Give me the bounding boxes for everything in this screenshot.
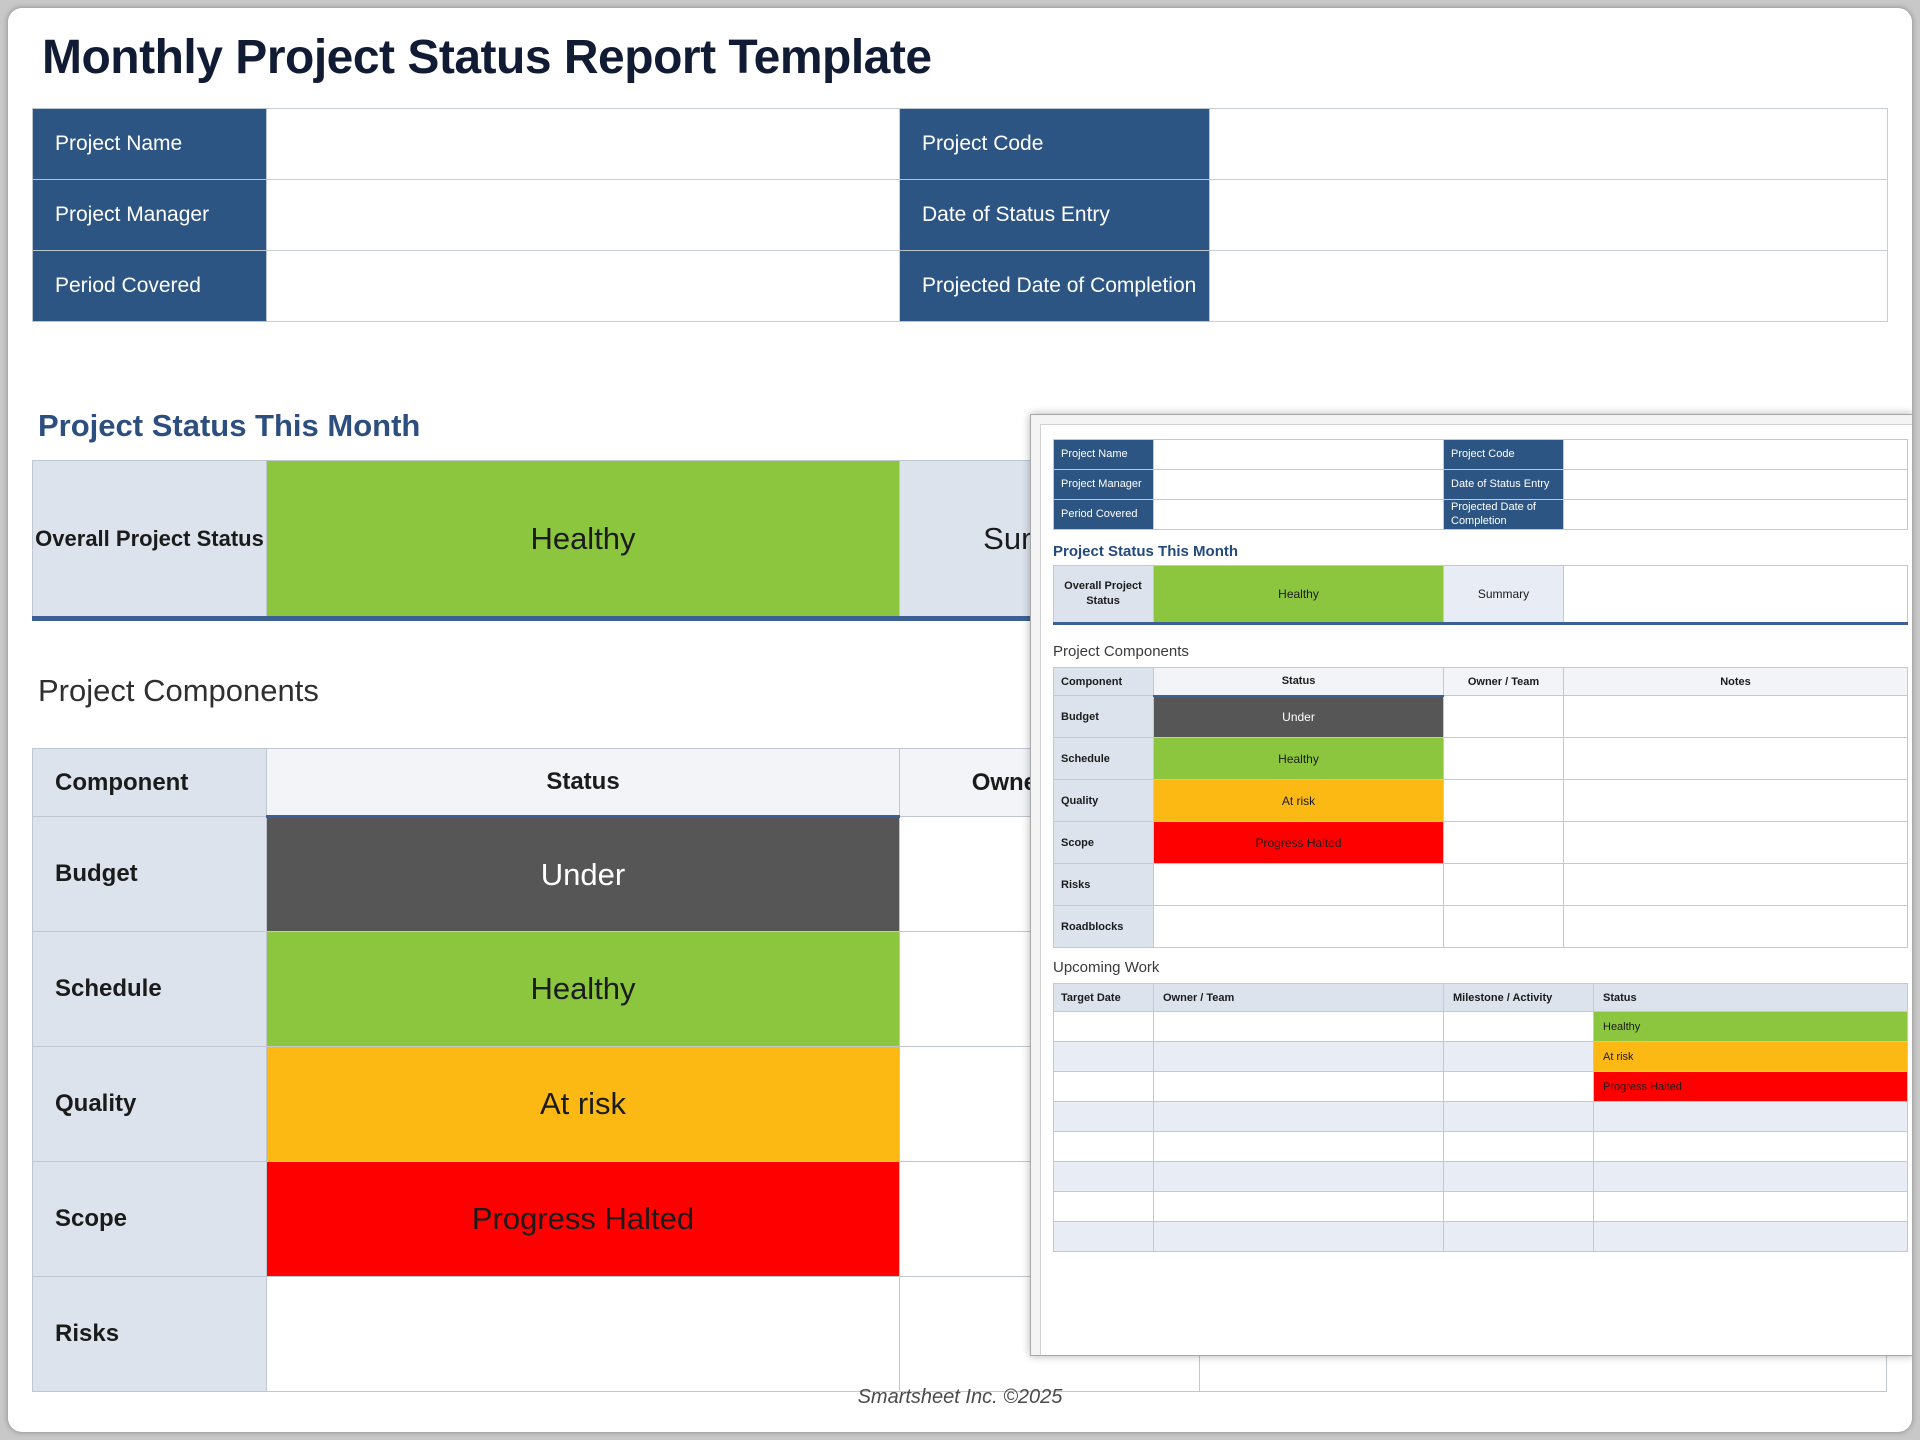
thumb-project-info-table: Project Name Project Code Project Manage… — [1053, 439, 1908, 530]
input-projected-date-of-completion[interactable] — [1210, 251, 1888, 322]
thumb-notes-cell-quality[interactable] — [1564, 780, 1908, 822]
row-label-scope: Scope — [33, 1162, 267, 1277]
thumb-upcoming-target-date-2[interactable] — [1054, 1042, 1154, 1072]
thumb-upcoming-owner-5[interactable] — [1154, 1132, 1444, 1162]
table-row — [1054, 1222, 1908, 1252]
thumb-status-cell-budget[interactable]: Under — [1154, 696, 1444, 738]
value-overall-project-status[interactable]: Healthy — [267, 461, 900, 619]
thumb-upcoming-target-date-6[interactable] — [1054, 1162, 1154, 1192]
table-row — [1054, 1192, 1908, 1222]
thumb-upcoming-target-date-7[interactable] — [1054, 1192, 1154, 1222]
thumb-notes-cell-budget[interactable] — [1564, 696, 1908, 738]
thumb-value-overall-project-status[interactable]: Healthy — [1154, 566, 1444, 624]
section-heading-project-status: Project Status This Month — [38, 408, 420, 444]
thumb-label-date-of-status-entry: Date of Status Entry — [1444, 470, 1564, 500]
thumb-upcoming-status-4[interactable] — [1594, 1102, 1908, 1132]
footer-credit: Smartsheet Inc. ©2025 — [8, 1386, 1912, 1409]
thumb-status-cell-risks[interactable] — [1154, 864, 1444, 906]
thumb-notes-cell-scope[interactable] — [1564, 822, 1908, 864]
table-row: Schedule Healthy — [1054, 738, 1908, 780]
table-row — [1054, 1102, 1908, 1132]
input-project-name[interactable] — [267, 109, 900, 180]
thumb-row-label-quality: Quality — [1054, 780, 1154, 822]
table-row — [1054, 1162, 1908, 1192]
section-heading-project-components: Project Components — [38, 673, 319, 709]
thumb-upcoming-milestone-5[interactable] — [1444, 1132, 1594, 1162]
thumb-row-label-roadblocks: Roadblocks — [1054, 906, 1154, 948]
thumb-column-header-component: Component — [1054, 668, 1154, 696]
thumb-notes-cell-risks[interactable] — [1564, 864, 1908, 906]
thumb-label-summary: Summary — [1444, 566, 1564, 624]
thumb-upcoming-milestone-1[interactable] — [1444, 1012, 1594, 1042]
thumb-section-heading-upcoming-work: Upcoming Work — [1053, 959, 1159, 976]
thumb-notes-cell-roadblocks[interactable] — [1564, 906, 1908, 948]
thumb-input-projected-date-of-completion[interactable] — [1564, 500, 1908, 530]
thumb-column-header-owner-team: Owner / Team — [1154, 984, 1444, 1012]
thumb-upcoming-target-date-5[interactable] — [1054, 1132, 1154, 1162]
input-period-covered[interactable] — [267, 251, 900, 322]
thumb-input-period-covered[interactable] — [1154, 500, 1444, 530]
thumb-input-summary[interactable] — [1564, 566, 1908, 624]
thumbnail-page: Project Name Project Code Project Manage… — [1040, 424, 1912, 1355]
thumb-label-project-manager: Project Manager — [1054, 470, 1154, 500]
table-row: Budget Under — [1054, 696, 1908, 738]
label-project-manager: Project Manager — [33, 180, 267, 251]
thumb-section-heading-project-status: Project Status This Month — [1053, 543, 1238, 560]
table-row: Risks — [1054, 864, 1908, 906]
thumb-column-header-notes: Notes — [1564, 668, 1908, 696]
thumb-owner-cell-budget[interactable] — [1444, 696, 1564, 738]
thumb-status-cell-roadblocks[interactable] — [1154, 906, 1444, 948]
thumb-label-period-covered: Period Covered — [1054, 500, 1154, 530]
table-row: Project Name Project Code — [1054, 440, 1908, 470]
thumb-upcoming-target-date-4[interactable] — [1054, 1102, 1154, 1132]
thumb-status-cell-scope[interactable]: Progress Halted — [1154, 822, 1444, 864]
label-period-covered: Period Covered — [33, 251, 267, 322]
thumb-label-project-code: Project Code — [1444, 440, 1564, 470]
thumb-upcoming-milestone-8[interactable] — [1444, 1222, 1594, 1252]
input-project-manager[interactable] — [267, 180, 900, 251]
thumb-overall-status-table: Overall Project Status Healthy Summary — [1053, 565, 1908, 625]
thumb-owner-cell-schedule[interactable] — [1444, 738, 1564, 780]
row-label-schedule: Schedule — [33, 932, 267, 1047]
thumb-owner-cell-risks[interactable] — [1444, 864, 1564, 906]
status-cell-budget[interactable]: Under — [267, 817, 900, 932]
thumb-upcoming-milestone-3[interactable] — [1444, 1072, 1594, 1102]
table-row: Quality At risk — [1054, 780, 1908, 822]
thumb-upcoming-status-8[interactable] — [1594, 1222, 1908, 1252]
status-cell-quality[interactable]: At risk — [267, 1047, 900, 1162]
thumb-upcoming-owner-4[interactable] — [1154, 1102, 1444, 1132]
page-title: Monthly Project Status Report Template — [42, 30, 932, 85]
thumb-input-project-manager[interactable] — [1154, 470, 1444, 500]
thumb-label-project-name: Project Name — [1054, 440, 1154, 470]
table-row: Healthy — [1054, 1012, 1908, 1042]
thumb-row-label-budget: Budget — [1054, 696, 1154, 738]
thumb-project-components-table: Component Status Owner / Team Notes Budg… — [1053, 667, 1908, 948]
thumb-column-header-milestone-activity: Milestone / Activity — [1444, 984, 1594, 1012]
report-page: Monthly Project Status Report Template P… — [8, 8, 1912, 1432]
thumb-label-overall-project-status: Overall Project Status — [1054, 566, 1154, 624]
thumb-upcoming-target-date-8[interactable] — [1054, 1222, 1154, 1252]
table-row: At risk — [1054, 1042, 1908, 1072]
label-project-name: Project Name — [33, 109, 267, 180]
thumb-upcoming-owner-1[interactable] — [1154, 1012, 1444, 1042]
thumb-input-project-name[interactable] — [1154, 440, 1444, 470]
table-row: Scope Progress Halted — [1054, 822, 1908, 864]
thumb-upcoming-target-date-1[interactable] — [1054, 1012, 1154, 1042]
thumb-upcoming-owner-8[interactable] — [1154, 1222, 1444, 1252]
project-info-table: Project Name Project Code Project Manage… — [32, 108, 1888, 322]
table-row: Progress Halted — [1054, 1072, 1908, 1102]
thumb-column-header-status: Status — [1154, 668, 1444, 696]
thumb-upcoming-owner-7[interactable] — [1154, 1192, 1444, 1222]
thumb-row-label-scope: Scope — [1054, 822, 1154, 864]
table-row: Overall Project Status Healthy Summary — [1054, 566, 1908, 624]
table-row: Period Covered Projected Date of Complet… — [1054, 500, 1908, 530]
table-header-row: Component Status Owner / Team Notes — [1054, 668, 1908, 696]
thumb-upcoming-owner-6[interactable] — [1154, 1162, 1444, 1192]
thumb-upcoming-status-6[interactable] — [1594, 1162, 1908, 1192]
thumb-upcoming-target-date-3[interactable] — [1054, 1072, 1154, 1102]
label-projected-date-of-completion: Projected Date of Completion — [900, 251, 1210, 322]
table-row: Roadblocks — [1054, 906, 1908, 948]
thumb-upcoming-status-5[interactable] — [1594, 1132, 1908, 1162]
thumb-upcoming-milestone-7[interactable] — [1444, 1192, 1594, 1222]
thumb-row-label-risks: Risks — [1054, 864, 1154, 906]
thumb-upcoming-owner-3[interactable] — [1154, 1072, 1444, 1102]
thumb-upcoming-status-1[interactable]: Healthy — [1594, 1012, 1908, 1042]
thumb-upcoming-status-7[interactable] — [1594, 1192, 1908, 1222]
thumb-upcoming-work-table: Target Date Owner / Team Milestone / Act… — [1053, 983, 1908, 1252]
column-header-component: Component — [33, 749, 267, 817]
table-row: Project Name Project Code — [33, 109, 1888, 180]
thumb-upcoming-status-3[interactable]: Progress Halted — [1594, 1072, 1908, 1102]
table-header-row: Target Date Owner / Team Milestone / Act… — [1054, 984, 1908, 1012]
thumb-column-header-target-date: Target Date — [1054, 984, 1154, 1012]
thumb-upcoming-milestone-2[interactable] — [1444, 1042, 1594, 1072]
row-label-budget: Budget — [33, 817, 267, 932]
table-row: Project Manager Date of Status Entry — [1054, 470, 1908, 500]
column-header-status: Status — [267, 749, 900, 817]
status-cell-scope[interactable]: Progress Halted — [267, 1162, 900, 1277]
row-label-quality: Quality — [33, 1047, 267, 1162]
thumb-input-date-of-status-entry[interactable] — [1564, 470, 1908, 500]
label-overall-project-status: Overall Project Status — [33, 461, 267, 619]
thumb-section-heading-project-components: Project Components — [1053, 643, 1189, 660]
thumbnail-preview-panel[interactable]: Project Name Project Code Project Manage… — [1030, 414, 1912, 1356]
thumb-upcoming-owner-2[interactable] — [1154, 1042, 1444, 1072]
label-date-of-status-entry: Date of Status Entry — [900, 180, 1210, 251]
thumb-status-cell-schedule[interactable]: Healthy — [1154, 738, 1444, 780]
thumb-row-label-schedule: Schedule — [1054, 738, 1154, 780]
thumb-column-header-status: Status — [1594, 984, 1908, 1012]
thumb-column-header-owner-team: Owner / Team — [1444, 668, 1564, 696]
thumb-upcoming-milestone-4[interactable] — [1444, 1102, 1594, 1132]
input-project-code[interactable] — [1210, 109, 1888, 180]
thumb-notes-cell-schedule[interactable] — [1564, 738, 1908, 780]
thumb-input-project-code[interactable] — [1564, 440, 1908, 470]
status-cell-risks[interactable] — [267, 1277, 900, 1392]
status-cell-schedule[interactable]: Healthy — [267, 932, 900, 1047]
thumb-label-projected-date-of-completion: Projected Date of Completion — [1444, 500, 1564, 530]
thumb-owner-cell-scope[interactable] — [1444, 822, 1564, 864]
thumb-status-cell-quality[interactable]: At risk — [1154, 780, 1444, 822]
table-row: Period Covered Projected Date of Complet… — [33, 251, 1888, 322]
row-label-risks: Risks — [33, 1277, 267, 1392]
thumb-upcoming-milestone-6[interactable] — [1444, 1162, 1594, 1192]
table-row — [1054, 1132, 1908, 1162]
table-row: Project Manager Date of Status Entry — [33, 180, 1888, 251]
thumb-upcoming-status-2[interactable]: At risk — [1594, 1042, 1908, 1072]
thumb-owner-cell-quality[interactable] — [1444, 780, 1564, 822]
thumb-owner-cell-roadblocks[interactable] — [1444, 906, 1564, 948]
input-date-of-status-entry[interactable] — [1210, 180, 1888, 251]
label-project-code: Project Code — [900, 109, 1210, 180]
